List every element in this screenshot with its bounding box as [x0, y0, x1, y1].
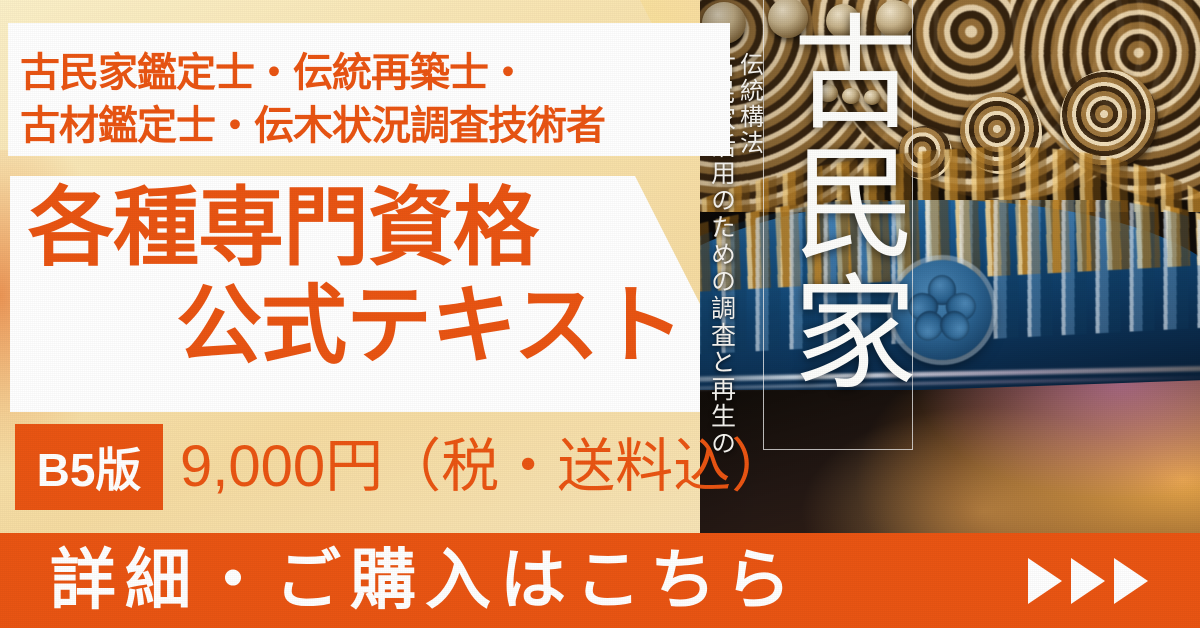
qualifications-line-1: 古民家鑑定士・伝統再築士・	[20, 47, 732, 100]
cta-arrow-group	[1028, 558, 1148, 604]
headline-panel: 各種専門資格 公式テキスト	[10, 176, 700, 412]
cover-main-title: 古民家	[771, 8, 905, 398]
headline-line-1: 各種専門資格	[28, 182, 538, 275]
qualifications-text: 古民家鑑定士・伝統再築士・ 古材鑑定士・伝木状況調査技術者	[20, 47, 732, 153]
promotional-banner: 古民家 伝統構法 古民家活用のための調査と再生の 古民家鑑定士・伝統再築士・ 古…	[0, 0, 1200, 628]
price-text: 9,000円（税・送料込）	[180, 426, 789, 508]
cta-bar[interactable]: 詳細・ご購入はこちら	[0, 533, 1200, 628]
qualifications-line-2: 古材鑑定士・伝木状況調査技術者	[20, 100, 732, 153]
qualifications-panel: 古民家鑑定士・伝統再築士・ 古材鑑定士・伝木状況調査技術者	[8, 23, 730, 156]
headline-line-2: 公式テキスト	[176, 280, 683, 373]
chevron-right-icon	[1071, 558, 1105, 604]
format-badge: B5版	[15, 424, 163, 510]
chevron-right-icon	[1114, 558, 1148, 604]
chevron-right-icon	[1028, 558, 1062, 604]
cta-label: 詳細・ご購入はこちら	[50, 546, 800, 612]
